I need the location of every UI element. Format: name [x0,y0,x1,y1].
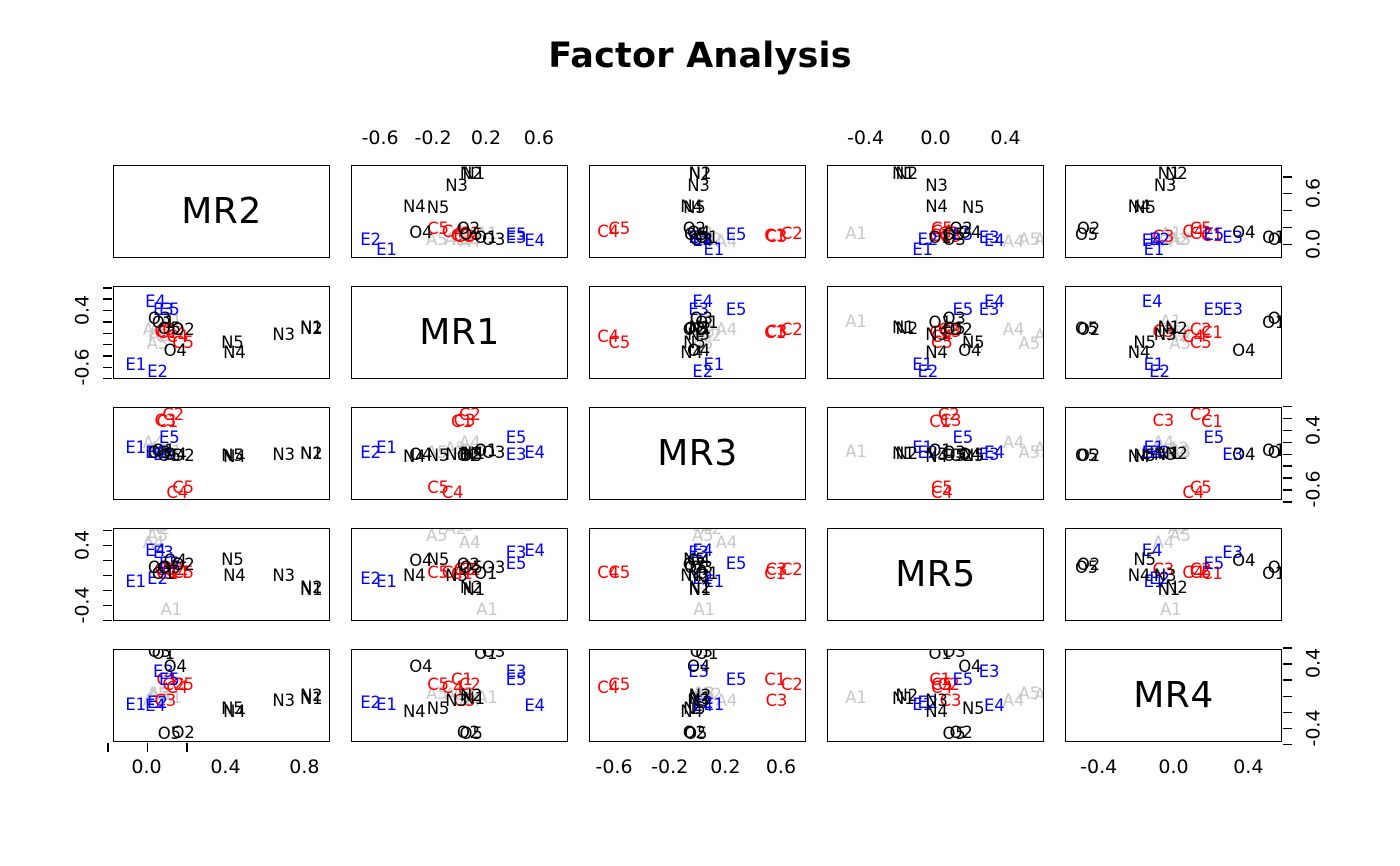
axis-tick-label-mr2: 0.0 [131,758,161,777]
axis-tick [186,743,188,752]
data-point-label: O4 [164,659,187,676]
axis-tick [1283,712,1292,714]
data-point-label: C5 [1190,335,1212,352]
data-point-label: C5 [1190,480,1212,497]
data-point-label: O5 [942,447,965,464]
axis-tick-label-y-mr3: 0.4 [1305,415,1324,445]
axis-tick [1283,679,1292,681]
data-point-label: N4 [403,199,425,216]
data-point-label: N3 [1154,567,1176,584]
data-point-label: E4 [984,698,1005,715]
data-point-label: O5 [684,227,707,244]
data-point-label: N4 [925,345,947,362]
data-point-label: A3 [1041,324,1044,341]
data-point-label: C3 [766,693,788,710]
data-point-label: N3 [1154,178,1176,195]
data-point-label: A4 [716,534,737,551]
axis-tick-label-mr1: -0.2 [414,129,451,148]
data-point-label: O4 [687,659,710,676]
scatter-panel-mr1-vs-mr5: A1A2A3A4A5C1C2C3C4C5E1E2E3E4E5N1N2N3N4N5… [351,528,568,621]
page-title: Factor Analysis [0,36,1400,76]
data-point-label: C3 [940,413,962,430]
scatter-panel-mr5-vs-mr4: A1A2A3A4A5C1C2C3C4C5E1E2E3E4E5N1N2N3N4N5… [827,649,1044,742]
axis-tick-label-y-mr4: 0.4 [1305,648,1324,678]
axis-tick [103,333,112,335]
data-point-label: A1 [845,444,866,461]
data-point-label: O4 [164,342,187,359]
axis-tick [103,620,112,622]
data-point-label: A1 [845,226,866,243]
data-point-label: A3 [1041,444,1044,461]
axis-tick-label-mr1: -0.6 [362,129,399,148]
data-point-label: E5 [726,556,747,573]
data-point-label: A1 [845,314,866,331]
data-point-label: O5 [684,560,707,577]
data-point-label: E4 [984,444,1005,461]
data-point-label: O3 [1268,445,1282,462]
data-point-label: N4 [925,199,947,216]
data-point-label: E5 [726,671,747,688]
data-point-label: N3 [1154,327,1176,344]
data-point-label: E3 [979,663,1000,680]
scatter-panel-mr1-vs-mr3: A1A2A3A4A5C1C2C3C4C5E1E2E3E4E5N1N2N3N4N5… [351,407,568,500]
diagonal-panel-mr1: MR1 [351,286,568,379]
data-point-label: O3 [1268,231,1282,248]
data-point-label: N5 [1133,200,1155,217]
data-point-label: E5 [726,301,747,318]
data-point-label: O5 [1075,227,1098,244]
data-point-label: N3 [925,178,947,195]
axis-tick [1283,647,1292,649]
data-point-label: O4 [958,659,981,676]
data-point-label: N5 [1133,552,1155,569]
data-point-label: O5 [460,560,483,577]
factor-name-label: MR3 [657,436,737,472]
scatter-panel-mr1-vs-mr4: A1A2A3A4A5C1C2C3C4C5E1E2E3E4E5N1N2N3N4N5… [351,649,568,742]
data-point-label: C3 [154,413,176,430]
axis-tick [103,367,112,369]
axis-tick [103,321,112,323]
scatter-panel-mr5-vs-mr1: A1A2A3A4A5C1C2C3C4C5E1E2E3E4E5N1N2N3N4N5… [827,286,1044,379]
data-point-label: E3 [1222,301,1243,318]
data-point-label: C3 [766,229,788,246]
axis-tick [1283,227,1292,229]
data-point-label: O5 [158,321,181,338]
data-point-label: E5 [726,227,747,244]
data-point-label: E2 [1149,364,1170,379]
data-point-label: A1 [845,690,866,707]
axis-tick-label-mr3: -0.6 [595,758,632,777]
scatter-panel-mr3-vs-mr1: A1A2A3A4A5C1C2C3C4C5E1E2E3E4E5N1N2N3N4N5… [589,286,806,379]
axis-tick [103,355,112,357]
data-point-label: C5 [427,480,449,497]
data-point-label: E2 [360,695,381,712]
data-point-label: O5 [460,726,483,742]
axis-tick [1283,696,1292,698]
axis-tick-label-mr3: 0.6 [766,758,796,777]
data-point-label: N2 [896,166,918,183]
data-point-label: A3 [1041,231,1044,248]
axis-tick [103,590,112,592]
axis-tick [1283,430,1292,432]
data-point-label: E1 [125,697,146,714]
axis-tick [1283,442,1292,444]
data-point-label: C3 [766,561,788,578]
data-point-label: E4 [524,698,545,715]
scatter-panel-mr1-vs-mr2: A1A2A3A4A5C1C2C3C4C5E1E2E3E4E5N1N2N3N4N5… [351,165,568,258]
data-point-label: N2 [896,446,918,463]
axis-tick-label-mr4: 0.0 [1158,758,1188,777]
axis-tick [1283,477,1292,479]
factor-name-label: MR2 [181,194,261,230]
data-point-label: O3 [482,445,505,462]
data-point-label: C5 [608,335,630,352]
axis-tick-label-mr1: 0.2 [471,129,501,148]
data-point-label: N5 [427,200,449,217]
data-point-label: N5 [962,701,984,718]
data-point-label: E5 [1204,556,1225,573]
axis-tick [1283,744,1292,746]
data-point-label: C5 [608,565,630,582]
data-point-label: O4 [1232,225,1255,242]
data-point-label: C2 [1190,407,1212,423]
data-point-label: O5 [460,227,483,244]
data-point-label: E4 [524,233,545,250]
factor-name-label: MR5 [895,557,975,593]
data-point-label: N5 [1133,335,1155,352]
axis-tick [103,287,112,289]
data-point-label: E5 [1204,301,1225,318]
axis-tick-label-mr4: 0.4 [1233,758,1263,777]
data-point-label: O4 [409,553,432,570]
data-point-label: N4 [925,703,947,720]
data-point-label: N5 [221,335,243,352]
data-point-label: O5 [684,321,707,338]
axis-tick-label-y-mr4: -0.4 [1305,709,1324,746]
scatter-panel-mr5-vs-mr2: A1A2A3A4A5C1C2C3C4C5E1E2E3E4E5N1N2N3N4N5… [827,165,1044,258]
axis-tick [1283,501,1292,503]
axis-tick [1283,193,1292,195]
data-point-label: A5 [1019,232,1040,249]
axis-tick [1283,663,1292,665]
data-point-label: N5 [427,701,449,718]
axis-tick-label-mr5: -0.4 [847,129,884,148]
data-point-label: E4 [524,543,545,560]
axis-tick [1283,406,1292,408]
data-point-label: E4 [145,698,166,715]
factor-analysis-figure: Factor Analysis MR2A1A2A3A4A5C1C2C3C4C5E… [0,0,1400,866]
data-point-label: N5 [221,448,243,465]
data-point-label: E4 [524,444,545,461]
axis-tick-label-y-mr1: 0.4 [74,295,93,325]
axis-tick-label-y-mr3: -0.6 [1305,471,1324,508]
data-point-label: E5 [1204,430,1225,447]
axis-tick [103,530,112,532]
axis-tick [103,344,112,346]
data-point-label: N5 [221,552,243,569]
data-point-label: O5 [460,447,483,464]
axis-tick-label-y-mr1: -0.6 [74,348,93,385]
data-point-label: O5 [942,227,965,244]
axis-tick [1283,465,1292,467]
axis-tick-label-y-mr2: 0.0 [1305,229,1324,259]
data-point-label: E2 [360,232,381,249]
axis-tick [103,560,112,562]
axis-tick [1283,489,1292,491]
data-point-label: N2 [300,321,322,338]
data-point-label: A1 [476,602,497,619]
data-point-label: A4 [716,321,737,338]
data-point-label: O3 [482,560,505,577]
data-point-label: N5 [683,701,705,718]
data-point-label: E5 [506,227,527,244]
data-point-label: N3 [272,446,294,463]
data-point-label: A5 [1019,444,1040,461]
data-point-label: N4 [223,567,245,584]
data-point-label: N3 [687,178,709,195]
data-point-label: O5 [684,726,707,742]
factor-name-label: MR1 [419,315,499,351]
data-point-label: C3 [454,413,476,430]
axis-tick-label-mr4: -0.4 [1080,758,1117,777]
data-point-label: O4 [1232,342,1255,359]
data-point-label: N4 [1128,567,1150,584]
scatter-panel-mr5-vs-mr3: A1A2A3A4A5C1C2C3C4C5E1E2E3E4E5N1N2N3N4N5… [827,407,1044,500]
data-point-label: E5 [506,430,527,447]
data-point-label: O3 [482,649,505,660]
data-point-label: N3 [272,692,294,709]
data-point-label: E5 [506,556,527,573]
data-point-label: O5 [158,447,181,464]
data-point-label: N2 [300,687,322,704]
data-point-label: A4 [459,534,480,551]
data-point-label: O5 [1075,321,1098,338]
scatter-panel-mr2-vs-mr5: A1A2A3A4A5C1C2C3C4C5E1E2E3E4E5N1N2N3N4N5… [113,528,330,621]
scatter-panel-mr3-vs-mr5: A1A2A3A4A5C1C2C3C4C5E1E2E3E4E5N1N2N3N4N5… [589,528,806,621]
axis-tick [147,743,149,752]
data-point-label: A5 [1019,335,1040,352]
data-point-label: N3 [272,327,294,344]
data-point-label: O4 [409,659,432,676]
diagonal-panel-mr4: MR4 [1065,649,1282,742]
axis-tick [103,575,112,577]
data-point-label: A5 [426,528,447,544]
data-point-label: O5 [942,321,965,338]
data-point-label: E1 [125,573,146,590]
data-point-label: O4 [1232,446,1255,463]
data-point-label: N4 [403,703,425,720]
data-point-label: C3 [766,324,788,341]
diagonal-panel-mr5: MR5 [827,528,1044,621]
data-point-label: E4 [1142,293,1163,310]
axis-tick-label-mr5: 0.4 [990,129,1020,148]
data-point-label: A1 [1160,602,1181,619]
data-point-label: N5 [962,200,984,217]
data-point-label: E5 [506,671,527,688]
axis-tick [103,378,112,380]
data-point-label: C5 [608,221,630,238]
axis-tick [103,310,112,312]
axis-tick [1283,176,1292,178]
diagonal-panel-mr2: MR2 [113,165,330,258]
data-point-label: A1 [161,602,182,619]
scatter-panel-mr4-vs-mr3: A1A2A3A4A5C1C2C3C4C5E1E2E3E4E5N1N2N3N4N5… [1065,407,1282,500]
data-point-label: O3 [1268,560,1282,577]
data-point-label: E4 [984,293,1005,310]
axis-tick-label-mr2: 0.4 [210,758,240,777]
data-point-label: E1 [125,357,146,374]
axis-tick-label-mr2: 0.8 [289,758,319,777]
data-point-label: A5 [1169,528,1190,544]
axis-tick [103,298,112,300]
scatter-panel-mr2-vs-mr3: A1A2A3A4A5C1C2C3C4C5E1E2E3E4E5N1N2N3N4N5… [113,407,330,500]
data-point-label: E2 [692,364,713,379]
axis-tick-label-mr3: -0.2 [651,758,688,777]
axis-tick [1283,728,1292,730]
data-point-label: O5 [158,560,181,577]
data-point-label: E2 [360,571,381,588]
scatter-panel-mr2-vs-mr1: A1A2A3A4A5C1C2C3C4C5E1E2E3E4E5N1N2N3N4N5… [113,286,330,379]
data-point-label: N3 [445,178,467,195]
scatter-panel-mr4-vs-mr1: A1A2A3A4A5C1C2C3C4C5E1E2E3E4E5N1N2N3N4N5… [1065,286,1282,379]
data-point-label: E2 [360,444,381,461]
data-point-label: E2 [147,364,168,379]
axis-tick-label-y-mr5: 0.4 [74,529,93,559]
axis-tick [1283,454,1292,456]
data-point-label: O3 [482,231,505,248]
data-point-label: C3 [1152,413,1174,430]
data-point-label: A1 [693,602,714,619]
scatter-panel-mr3-vs-mr4: A1A2A3A4A5C1C2C3C4C5E1E2E3E4E5N1N2N3N4N5… [589,649,806,742]
data-point-label: O3 [1268,311,1282,328]
data-point-label: A3 [1041,686,1044,703]
axis-tick-label-mr5: 0.0 [920,129,950,148]
data-point-label: N2 [300,580,322,597]
data-point-label: N5 [1133,448,1155,465]
scatter-panel-mr4-vs-mr2: A1A2A3A4A5C1C2C3C4C5E1E2E3E4E5N1N2N3N4N5… [1065,165,1282,258]
axis-tick [1283,210,1292,212]
data-point-label: O4 [958,342,981,359]
diagonal-panel-mr3: MR3 [589,407,806,500]
axis-tick [107,743,109,752]
axis-tick [103,545,112,547]
factor-name-label: MR4 [1133,678,1213,714]
data-point-label: O4 [409,446,432,463]
data-point-label: E5 [1204,227,1225,244]
data-point-label: O4 [409,225,432,242]
data-point-label: C5 [608,677,630,694]
data-point-label: C5 [172,480,194,497]
axis-tick [1283,418,1292,420]
data-point-label: E4 [984,233,1005,250]
data-point-label: N5 [683,200,705,217]
axis-tick-label-y-mr5: -0.4 [74,586,93,623]
data-point-label: N2 [896,321,918,338]
data-point-label: E3 [506,446,527,463]
data-point-label: O5 [1075,560,1098,577]
data-point-label: C5 [931,480,953,497]
data-point-label: E1 [125,440,146,457]
data-point-label: O4 [687,342,710,359]
data-point-label: E4 [1142,233,1163,250]
data-point-label: O5 [158,726,181,742]
data-point-label: O5 [942,726,965,742]
axis-tick-label-mr1: 0.6 [524,129,554,148]
data-point-label: N3 [272,567,294,584]
scatter-panel-mr3-vs-mr2: A1A2A3A4A5C1C2C3C4C5E1E2E3E4E5N1N2N3N4N5… [589,165,806,258]
data-point-label: N5 [221,701,243,718]
axis-tick-label-y-mr2: 0.6 [1305,178,1324,208]
scatter-panel-mr2-vs-mr4: A1A2A3A4A5C1C2C3C4C5E1E2E3E4E5N1N2N3N4N5… [113,649,330,742]
data-point-label: N3 [1154,446,1176,463]
scatter-panel-mr4-vs-mr5: A1A2A3A4A5C1C2C3C4C5E1E2E3E4E5N1N2N3N4N5… [1065,528,1282,621]
axis-tick-label-mr3: 0.2 [710,758,740,777]
data-point-label: E4 [692,293,713,310]
data-point-label: O5 [1075,447,1098,464]
data-point-label: N2 [896,687,918,704]
axis-tick [103,605,112,607]
data-point-label: O4 [1232,553,1255,570]
data-point-label: N2 [300,446,322,463]
data-point-label: E2 [917,364,938,379]
axis-tick [1283,244,1292,246]
data-point-label: A5 [1019,686,1040,703]
